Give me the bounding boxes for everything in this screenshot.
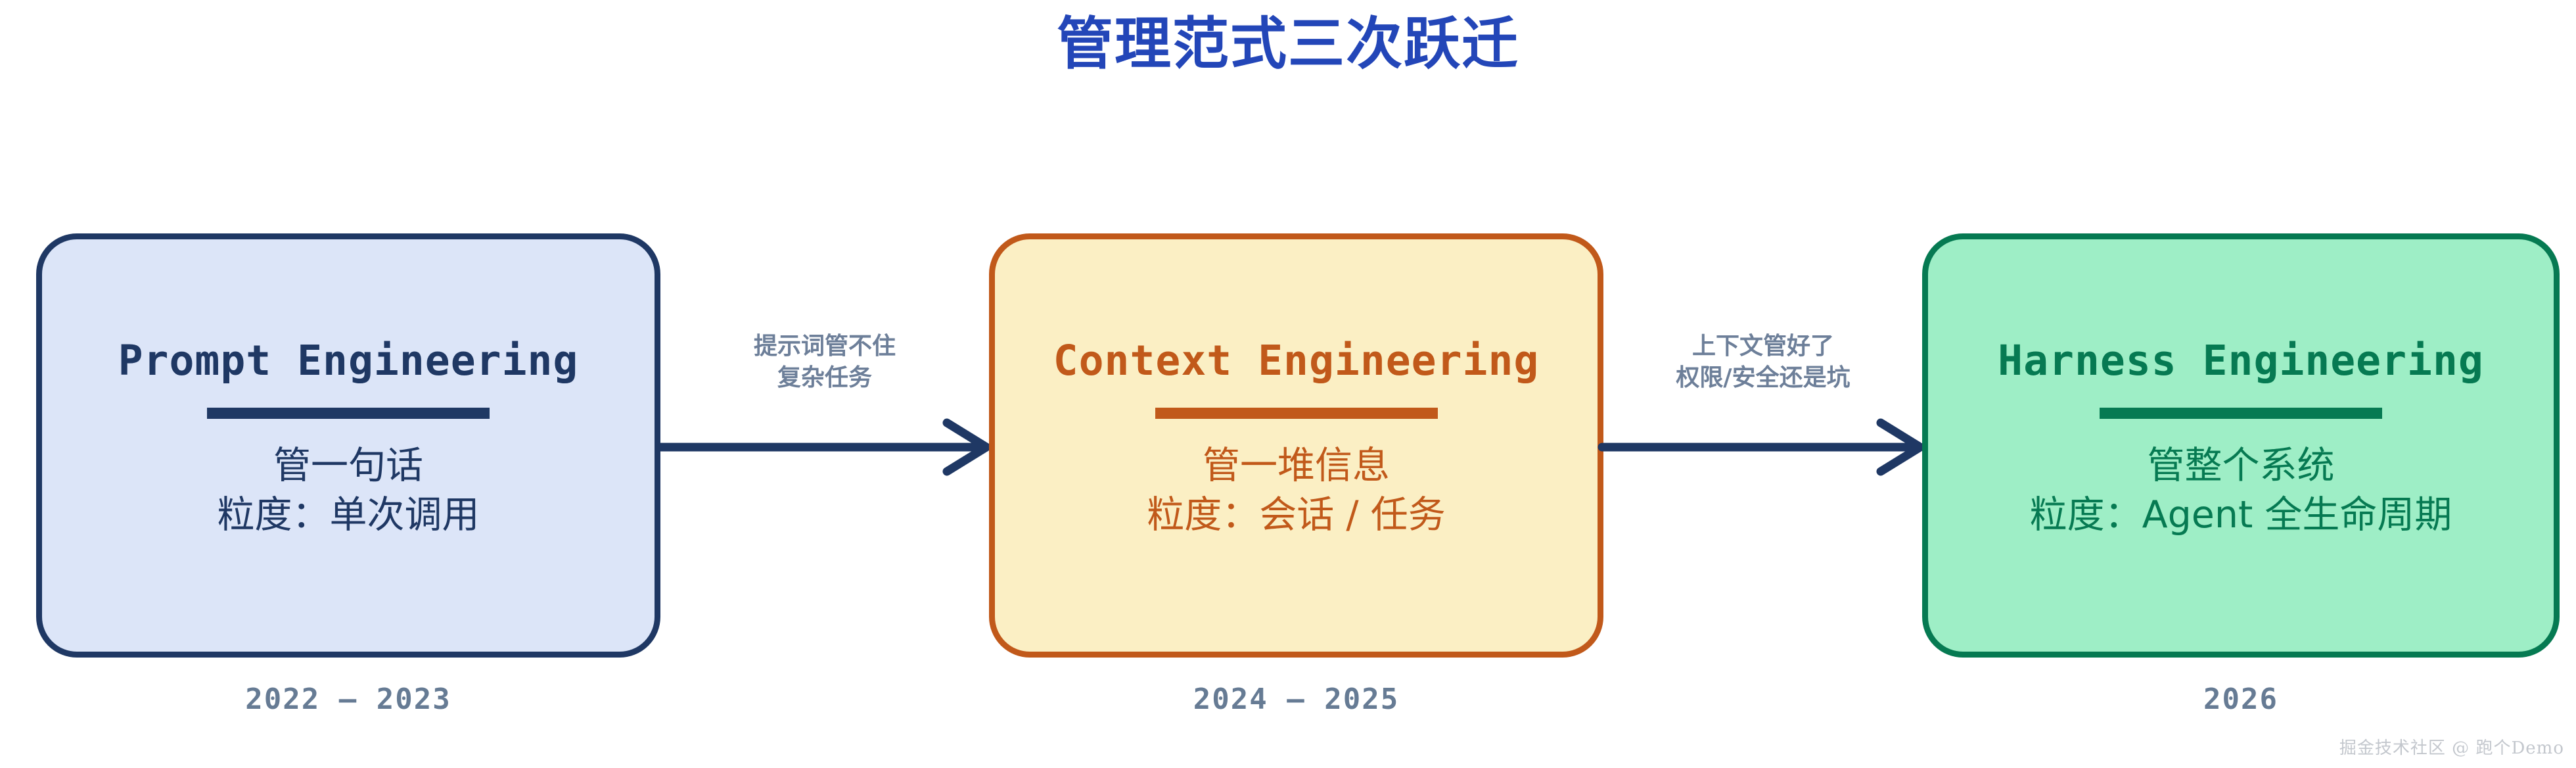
stage-heading: Prompt Engineering	[118, 340, 579, 381]
stage-detail-scope: 管一堆信息	[1203, 441, 1390, 490]
stage-detail-scope: 管整个系统	[2148, 441, 2335, 490]
diagram-canvas: 管理范式三次跃迁 Prompt Engineering 管一句话 粒度：单次调用…	[0, 0, 2576, 768]
watermark: 掘金技术社区 @ 跑个Demo	[2339, 734, 2564, 759]
stage-divider	[207, 408, 490, 419]
stage-card-context-engineering[interactable]: Context Engineering 管一堆信息 粒度：会话 / 任务	[989, 233, 1603, 658]
stage-detail-scope: 管一句话	[273, 441, 423, 490]
connector-context-to-harness: 上下文管好了 权限/安全还是坑	[1602, 233, 1924, 496]
stage-card-prompt-engineering[interactable]: Prompt Engineering 管一句话 粒度：单次调用	[36, 233, 660, 658]
stage-card-harness-engineering[interactable]: Harness Engineering 管整个系统 粒度：Agent 全生命周期	[1922, 233, 2560, 658]
stage-divider	[1155, 408, 1438, 419]
stage-divider	[2100, 408, 2382, 419]
stage-period-label: 2024 — 2025	[989, 683, 1603, 716]
stage-heading: Harness Engineering	[1998, 340, 2484, 381]
stage-detail-granularity: 粒度：Agent 全生命周期	[2030, 491, 2452, 539]
stage-detail-granularity: 粒度：单次调用	[218, 491, 480, 539]
stage-period-label: 2022 — 2023	[36, 683, 660, 716]
connector-prompt-to-context: 提示词管不住 复杂任务	[659, 233, 990, 496]
stage-period-label: 2026	[1922, 683, 2560, 716]
stage-detail-granularity: 粒度：会话 / 任务	[1147, 491, 1445, 539]
stage-heading: Context Engineering	[1053, 340, 1540, 381]
arrow-icon	[1602, 233, 1924, 496]
arrow-icon	[659, 233, 990, 496]
page-title: 管理范式三次跃迁	[0, 12, 2576, 77]
